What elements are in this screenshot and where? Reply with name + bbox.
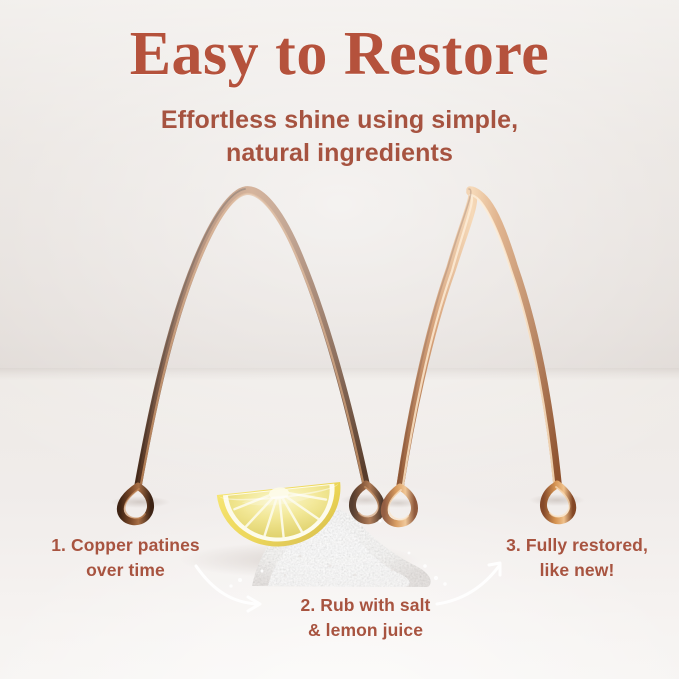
page-subtitle: Effortless shine using simple, natural i… [0,104,679,170]
step-1-line-2: over time [18,558,233,583]
page-title: Easy to Restore [0,22,679,87]
subtitle-line-1: Effortless shine using simple, [0,104,679,137]
step-3-line-2: like new! [482,558,672,583]
step-1-line-1: 1. Copper patines [18,533,233,558]
step-3-caption: 3. Fully restored, like new! [482,533,672,584]
step-2-caption: 2. Rub with salt & lemon juice [258,593,473,644]
step-3-line-1: 3. Fully restored, [482,533,672,558]
step-2-line-2: & lemon juice [258,618,473,643]
product-infographic: Easy to Restore Effortless shine using s… [0,0,679,679]
subtitle-line-2: natural ingredients [0,137,679,170]
step-1-caption: 1. Copper patines over time [18,533,233,584]
step-2-line-1: 2. Rub with salt [258,593,473,618]
